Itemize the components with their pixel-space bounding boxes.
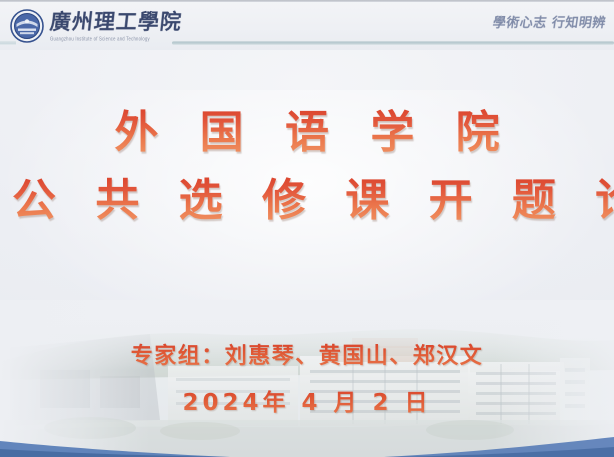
expert-group-label: 专家组：刘惠琴、黄国山、郑汉文 [0,341,614,373]
slide-footer: 专家组：刘惠琴、黄国山、郑汉文 2024年 4 月 2 日 [0,341,614,419]
university-seal-icon [10,9,44,43]
blue-swoosh-right [384,417,614,457]
presentation-slide: 廣州理工學院 Guangzhou Institute of Science an… [0,0,614,457]
slide-header: 廣州理工學院 Guangzhou Institute of Science an… [0,0,614,50]
university-name-en: Guangzhou Institute of Science and Techn… [50,35,185,42]
slide-title: 外 国 语 学 院 公 共 选 修 课 开 题 论 证 会 [0,104,614,230]
title-line-1: 外 国 语 学 院 [0,104,614,162]
university-motto: 學術心志 行知明辨 [492,12,608,31]
university-name-cn: 廣州理工學院 [49,8,172,35]
title-line-2: 公 共 选 修 课 开 题 论 证 会 [0,172,614,230]
header-top-line [0,0,614,2]
header-divider [172,41,614,45]
blue-swoosh-left [0,417,230,457]
header-divider-accent [0,41,16,45]
university-logo: 廣州理工學院 Guangzhou Institute of Science an… [10,8,170,46]
event-date: 2024年 4 月 2 日 [0,387,614,419]
